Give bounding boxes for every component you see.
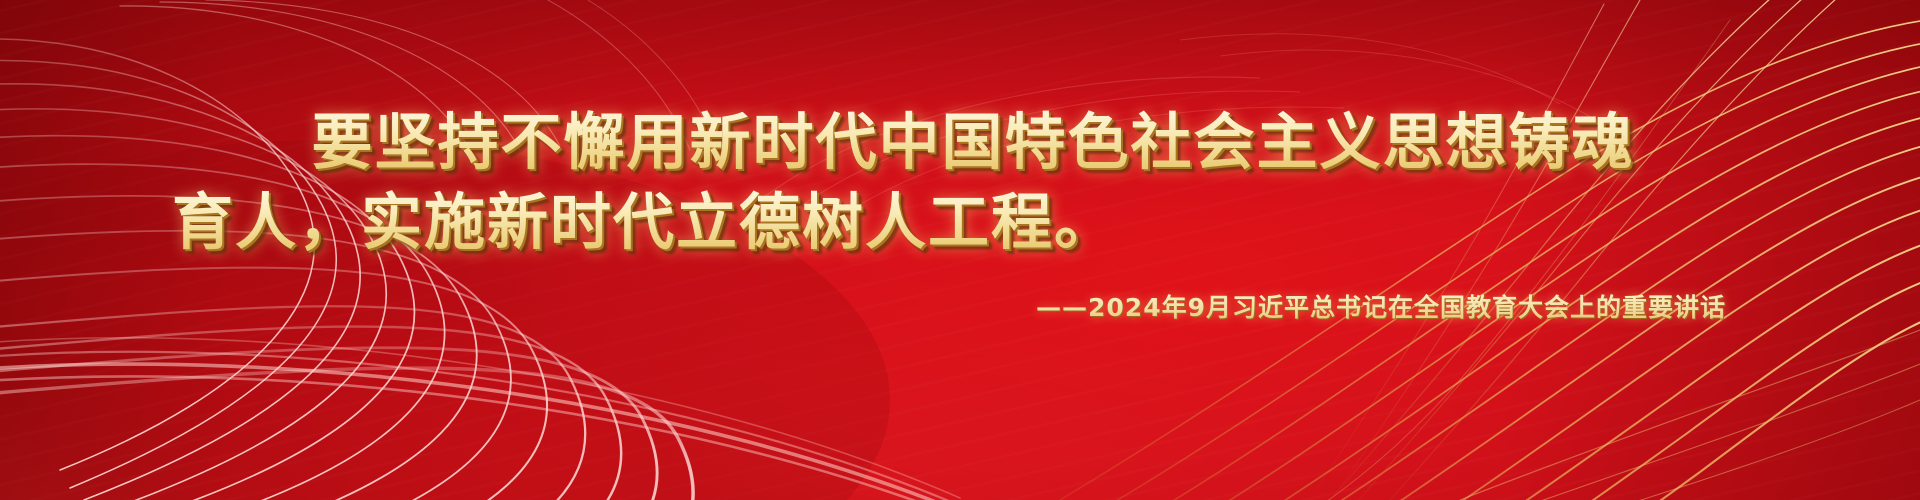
headline-line-1: 要坚持不懈用新时代中国特色社会主义思想铸魂 [0,108,1920,178]
attribution-text: ——2024年9月习近平总书记在全国教育大会上的重要讲话 [0,288,1920,324]
banner-root: 要坚持不懈用新时代中国特色社会主义思想铸魂 育人，实施新时代立德树人工程。 ——… [0,0,1920,500]
headline-line-2: 育人，实施新时代立德树人工程。 [0,188,1920,258]
banner-content: 要坚持不懈用新时代中国特色社会主义思想铸魂 育人，实施新时代立德树人工程。 ——… [0,0,1920,500]
